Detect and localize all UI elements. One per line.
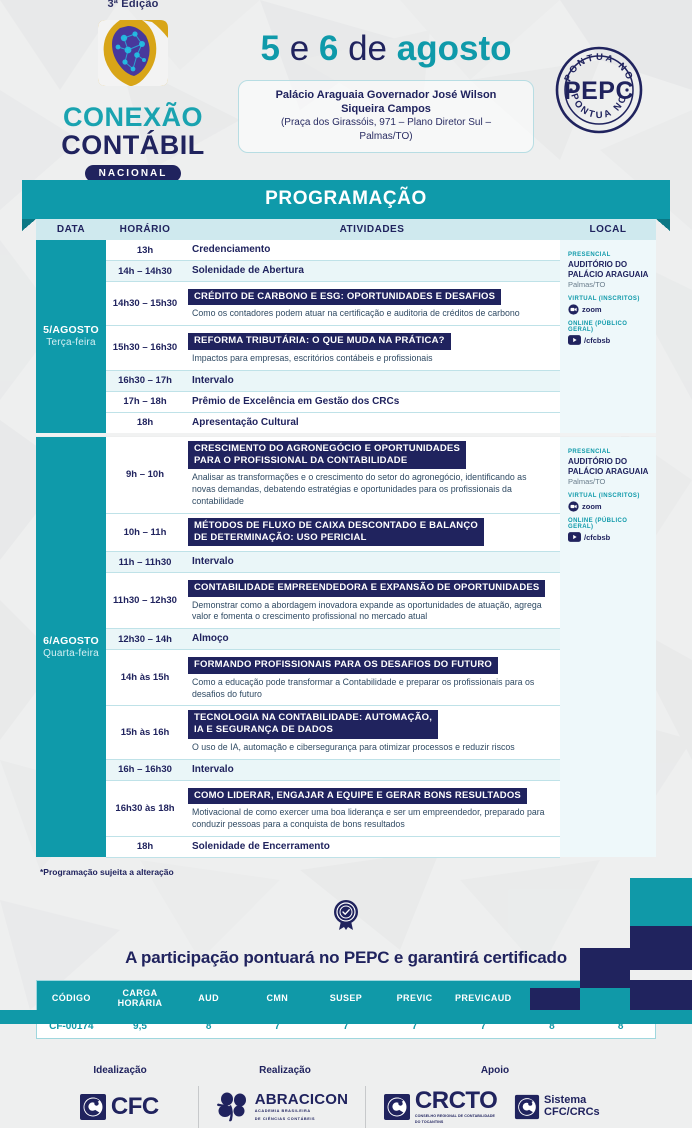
date-de: de	[348, 29, 387, 68]
bottom-bar	[0, 1010, 692, 1024]
abracicon-flower-icon	[216, 1092, 250, 1122]
row-time: 15h às 16h	[106, 706, 184, 759]
col-header-local: LOCAL	[560, 219, 656, 240]
row-time: 12h30 – 14h	[106, 629, 184, 650]
local-kicker-online: ONLINE (PÚBLICO GERAL)	[568, 321, 650, 333]
day-cell: 5/AGOSTOTerça-feira	[36, 240, 106, 434]
activity-title: CONTABILIDADE EMPREENDEDORA E EXPANSÃO D…	[188, 580, 545, 596]
logo-word-contabil: CONTÁBIL	[28, 131, 238, 159]
day-weekday: Terça-feira	[36, 337, 106, 348]
program-note: *Programação sujeita a alteração	[40, 867, 692, 877]
activity-description: Como a educação pode transformar a Conta…	[188, 674, 552, 701]
logo-word-conexao: CONEXÃO	[28, 104, 238, 131]
cfc-gear-icon	[79, 1093, 107, 1121]
local-venue-line2: PALÁCIO ARAGUAIA	[568, 270, 650, 280]
logo-cfc-text: CFC	[111, 1093, 159, 1121]
activity-description: Analisar as transformações e o crescimen…	[188, 469, 552, 508]
activity-plain: Credenciamento	[188, 244, 552, 255]
row-activity: Solenidade de Encerramento	[184, 836, 560, 857]
poster-header: 3ª Edição CONE	[0, 0, 692, 180]
banner-notch-right	[656, 219, 670, 231]
row-activity: Intervalo	[184, 370, 560, 391]
local-youtube-label: /cfcbsb	[584, 533, 610, 542]
local-zoom-row[interactable]: zoom	[568, 304, 650, 315]
date-conn: e	[290, 29, 309, 68]
row-time: 15h30 – 16h30	[106, 326, 184, 370]
local-kicker-virtual: VIRTUAL (INSCRITOS)	[568, 296, 650, 302]
logo-crcto-text: CRCTO	[415, 1089, 497, 1113]
venue-name: Palácio Araguaia Governador José Wilson …	[257, 88, 515, 117]
row-time: 11h30 – 12h30	[106, 573, 184, 629]
row-activity: REFORMA TRIBUTÁRIA: O QUE MUDA NA PRÁTIC…	[184, 326, 560, 370]
local-city: Palmas/TO	[568, 280, 650, 289]
row-time: 14h – 14h30	[106, 261, 184, 282]
date-month: agosto	[397, 29, 512, 68]
day-cell: 6/AGOSTOQuarta-feira	[36, 437, 106, 857]
program-row: 6/AGOSTOQuarta-feira9h – 10hCRESCIMENTO …	[36, 437, 656, 513]
activity-title: MÉTODOS DE FLUXO DE CAIXA DESCONTADO E B…	[188, 518, 484, 546]
zoom-icon	[568, 304, 579, 315]
activity-title: CRESCIMENTO DO AGRONEGÓCIO E OPORTUNIDAD…	[188, 441, 466, 469]
sistema-gear-icon	[514, 1094, 540, 1120]
logo-sistema-line1: Sistema	[544, 1095, 600, 1107]
col-header-data: DATA	[36, 219, 106, 240]
local-city: Palmas/TO	[568, 477, 650, 486]
logo-crcto-sub1: CONSELHO REGIONAL DE CONTABILIDADE	[415, 1114, 497, 1119]
day-weekday: Quarta-feira	[36, 648, 106, 659]
activity-title: CRÉDITO DE CARBONO E ESG: OPORTUNIDADES …	[188, 289, 501, 305]
local-youtube-row[interactable]: /cfcbsb	[568, 532, 650, 542]
logo-sistema-line2: CFC/CRCs	[544, 1107, 600, 1119]
activity-title-line2: DE DETERMINAÇÃO: USO PERICIAL	[194, 532, 478, 544]
activity-title: FORMANDO PROFISSIONAIS PARA OS DESAFIOS …	[188, 657, 498, 673]
deco-square-teal-1	[630, 878, 692, 926]
activity-plain: Solenidade de Encerramento	[188, 841, 552, 852]
event-date: 5 e 6 de agosto	[238, 31, 534, 66]
banner-notch-left	[22, 219, 36, 231]
program-table-wrap: DATA HORÁRIO ATIVIDADES LOCAL 5/AGOSTOTe…	[36, 219, 656, 858]
pepc-stamp: PONTUA NO PONTUA NO PEPC	[534, 38, 664, 142]
local-youtube-label: /cfcbsb	[584, 336, 610, 345]
logo-crcto: CRCTO CONSELHO REGIONAL DE CONTABILIDADE…	[366, 1089, 514, 1126]
local-kicker-presencial: PRESENCIAL	[568, 449, 650, 455]
row-time: 11h – 11h30	[106, 552, 184, 573]
local-youtube-row[interactable]: /cfcbsb	[568, 335, 650, 345]
activity-title: TECNOLOGIA NA CONTABILIDADE: AUTOMAÇÃO,I…	[188, 710, 438, 738]
row-time: 16h30 – 17h	[106, 370, 184, 391]
logo-abracicon-sub2: DE CIÊNCIAS CONTÁBEIS	[255, 1117, 348, 1123]
row-activity: CRESCIMENTO DO AGRONEGÓCIO E OPORTUNIDAD…	[184, 437, 560, 513]
svg-text:PEPC: PEPC	[564, 77, 634, 105]
local-cell: PRESENCIALAUDITÓRIO DOPALÁCIO ARAGUAIAPa…	[560, 437, 656, 857]
pepc-stamp-icon: PONTUA NO PONTUA NO PEPC	[547, 38, 651, 142]
row-time: 16h30 às 18h	[106, 780, 184, 836]
edition-label: 3ª Edição	[28, 0, 238, 10]
row-activity: Prêmio de Excelência em Gestão dos CRCs	[184, 391, 560, 412]
deco-square-teal-2	[580, 988, 630, 1010]
logo-abracicon: ABRACICON ACADEMIA BRASILEIRA DE CIÊNCIA…	[199, 1092, 366, 1122]
footer-logos: CFC ABRACICON ACADEMIA BRASILEIRA DE CIÊ…	[40, 1086, 652, 1128]
program-banner-wrap: PROGRAMAÇÃO	[22, 180, 670, 219]
row-activity: FORMANDO PROFISSIONAIS PARA OS DESAFIOS …	[184, 650, 560, 706]
program-banner-title: PROGRAMAÇÃO	[265, 188, 427, 209]
local-kicker-online: ONLINE (PÚBLICO GERAL)	[568, 518, 650, 530]
program-table: DATA HORÁRIO ATIVIDADES LOCAL 5/AGOSTOTe…	[36, 219, 656, 858]
row-time: 14h às 15h	[106, 650, 184, 706]
poster-footer: Idealização Realização Apoio CFC	[0, 1065, 692, 1128]
activity-plain: Almoço	[188, 633, 552, 644]
day-date: 5/AGOSTO	[43, 324, 99, 336]
deco-square-navy-4	[530, 988, 580, 1010]
logo-crcto-sub2: DO TOCANTINS	[415, 1120, 497, 1125]
local-zoom-row[interactable]: zoom	[568, 501, 650, 512]
row-activity: MÉTODOS DE FLUXO DE CAIXA DESCONTADO E B…	[184, 513, 560, 551]
local-zoom-label: zoom	[582, 305, 602, 314]
activity-plain: Prêmio de Excelência em Gestão dos CRCs	[188, 396, 552, 407]
activity-plain: Intervalo	[188, 764, 552, 775]
activity-description: O uso de IA, automação e cibersegurança …	[188, 739, 552, 754]
row-time: 10h – 11h	[106, 513, 184, 551]
deco-square-navy-1	[630, 926, 692, 970]
program-table-header-row: DATA HORÁRIO ATIVIDADES LOCAL	[36, 219, 656, 240]
local-zoom-label: zoom	[582, 502, 602, 511]
activity-description: Como os contadores podem atuar na certif…	[188, 305, 552, 320]
logo-cfc: CFC	[40, 1093, 198, 1121]
date-day-2: 6	[319, 29, 338, 68]
event-logo: 3ª Edição CONE	[28, 0, 238, 182]
youtube-icon	[568, 532, 581, 542]
activity-title: COMO LIDERAR, ENGAJAR A EQUIPE E GERAR B…	[188, 788, 527, 804]
local-venue-line2: PALÁCIO ARAGUAIA	[568, 467, 650, 477]
activity-description: Demonstrar como a abordagem inovadora ex…	[188, 597, 552, 624]
event-date-venue: 5 e 6 de agosto Palácio Araguaia Governa…	[238, 27, 534, 154]
deco-square-navy-2	[580, 948, 630, 988]
local-venue-line1: AUDITÓRIO DO	[568, 457, 650, 467]
youtube-icon	[568, 335, 581, 345]
logo-sistema-cfc-crcs: Sistema CFC/CRCs	[514, 1094, 652, 1120]
day-date: 6/AGOSTO	[43, 635, 99, 647]
certificate-seal-icon	[328, 897, 364, 933]
row-time: 9h – 10h	[106, 437, 184, 513]
row-time: 16h – 16h30	[106, 759, 184, 780]
row-time: 14h30 – 15h30	[106, 282, 184, 326]
row-activity: Almoço	[184, 629, 560, 650]
local-cell: PRESENCIALAUDITÓRIO DOPALÁCIO ARAGUAIAPa…	[560, 240, 656, 434]
footer-labels: Idealização Realização Apoio	[40, 1065, 652, 1076]
row-activity: Intervalo	[184, 759, 560, 780]
zoom-icon	[568, 501, 579, 512]
date-day-1: 5	[260, 29, 279, 68]
program-row: 5/AGOSTOTerça-feira13hCredenciamentoPRES…	[36, 240, 656, 261]
activity-plain: Apresentação Cultural	[188, 417, 552, 428]
row-activity: CONTABILIDADE EMPREENDEDORA E EXPANSÃO D…	[184, 573, 560, 629]
row-time: 18h	[106, 836, 184, 857]
crcto-gear-icon	[383, 1093, 411, 1121]
row-activity: Apresentação Cultural	[184, 412, 560, 434]
activity-plain: Intervalo	[188, 556, 552, 567]
activity-title-line2: IA E SEGURANÇA DE DADOS	[194, 724, 432, 736]
logo-mark-icon	[90, 14, 176, 100]
row-activity: Intervalo	[184, 552, 560, 573]
row-activity: Credenciamento	[184, 240, 560, 261]
col-header-horario: HORÁRIO	[106, 219, 184, 240]
activity-plain: Intervalo	[188, 375, 552, 386]
local-kicker-virtual: VIRTUAL (INSCRITOS)	[568, 493, 650, 499]
venue-box: Palácio Araguaia Governador José Wilson …	[238, 80, 534, 154]
local-kicker-presencial: PRESENCIAL	[568, 252, 650, 258]
activity-description: Motivacional de como exercer uma boa lid…	[188, 804, 552, 831]
activity-plain: Solenidade de Abertura	[188, 265, 552, 276]
row-time: 18h	[106, 412, 184, 434]
deco-square-navy-3	[630, 980, 692, 1010]
footer-label-apoio: Apoio	[370, 1065, 620, 1076]
row-activity: TECNOLOGIA NA CONTABILIDADE: AUTOMAÇÃO,I…	[184, 706, 560, 759]
footer-label-realizacao: Realização	[200, 1065, 370, 1076]
logo-abracicon-text: ABRACICON	[255, 1092, 348, 1107]
row-activity: Solenidade de Abertura	[184, 261, 560, 282]
footer-label-idealizacao: Idealização	[40, 1065, 200, 1076]
local-venue-line1: AUDITÓRIO DO	[568, 260, 650, 270]
activity-description: Impactos para empresas, escritórios cont…	[188, 350, 552, 365]
logo-abracicon-sub1: ACADEMIA BRASILEIRA	[255, 1109, 348, 1115]
venue-address: (Praça dos Girassóis, 971 – Plano Direto…	[257, 116, 515, 144]
row-activity: CRÉDITO DE CARBONO E ESG: OPORTUNIDADES …	[184, 282, 560, 326]
col-header-atividades: ATIVIDADES	[184, 219, 560, 240]
program-banner: PROGRAMAÇÃO	[22, 180, 670, 219]
row-activity: COMO LIDERAR, ENGAJAR A EQUIPE E GERAR B…	[184, 780, 560, 836]
row-time: 13h	[106, 240, 184, 261]
activity-title-line2: PARA O PROFISSIONAL DA CONTABILIDADE	[194, 455, 460, 467]
activity-title: REFORMA TRIBUTÁRIA: O QUE MUDA NA PRÁTIC…	[188, 333, 451, 349]
row-time: 17h – 18h	[106, 391, 184, 412]
